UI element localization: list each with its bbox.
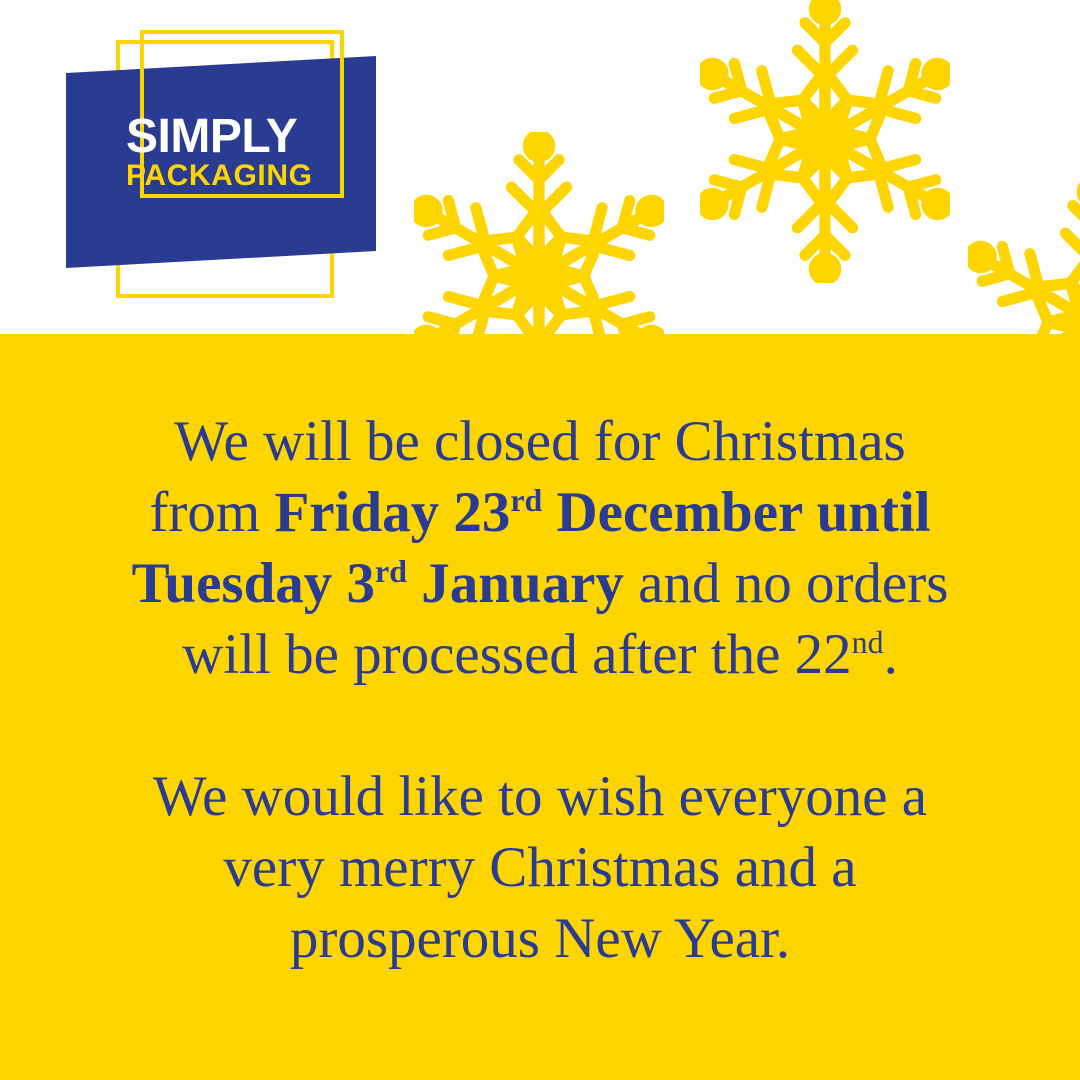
message-body: We will be closed for Christmas from Fri… (40, 406, 1040, 974)
closure-cutoff-ordinal: nd (852, 625, 884, 660)
company-logo[interactable]: SIMPLY PACKAGING (64, 26, 384, 296)
greeting-paragraph: We would like to wish everyone a very me… (40, 761, 1040, 974)
closure-end-month: January (407, 552, 624, 615)
holiday-closure-poster: SIMPLY PACKAGING We will be closed for C… (0, 0, 1080, 1080)
closure-line-3-suffix: and no orders (624, 552, 949, 615)
logo-wordmark: SIMPLY PACKAGING (126, 114, 336, 191)
snowflake-icon (414, 132, 664, 334)
greeting-line-1: We would like to wish everyone a (153, 765, 927, 828)
snowflake-icon (968, 178, 1080, 334)
closure-start-month: December until (542, 481, 930, 544)
closure-line-4-suffix: . (884, 623, 898, 686)
closure-line-2-prefix: from (149, 481, 274, 544)
header-band: SIMPLY PACKAGING (0, 0, 1080, 334)
closure-line-4-prefix: will be processed after the 22 (182, 623, 852, 686)
greeting-line-2: very merry Christmas and a (223, 836, 856, 899)
snowflake-icon (700, 0, 950, 283)
logo-word-packaging: PACKAGING (126, 162, 336, 191)
closure-end-ordinal: rd (375, 554, 407, 589)
message-panel: We will be closed for Christmas from Fri… (0, 334, 1080, 1080)
closure-start-date: Friday 23rd December until (274, 481, 930, 544)
closure-end-date: Tuesday 3rd January (132, 552, 624, 615)
logo-word-simply: SIMPLY (126, 114, 336, 160)
closure-paragraph: We will be closed for Christmas from Fri… (40, 406, 1040, 690)
greeting-line-3: prosperous New Year. (290, 907, 790, 970)
closure-line-1: We will be closed for Christmas (174, 410, 906, 473)
closure-start-day: Friday 23 (274, 481, 510, 544)
closure-start-ordinal: rd (510, 483, 542, 518)
closure-end-day: Tuesday 3 (132, 552, 375, 615)
